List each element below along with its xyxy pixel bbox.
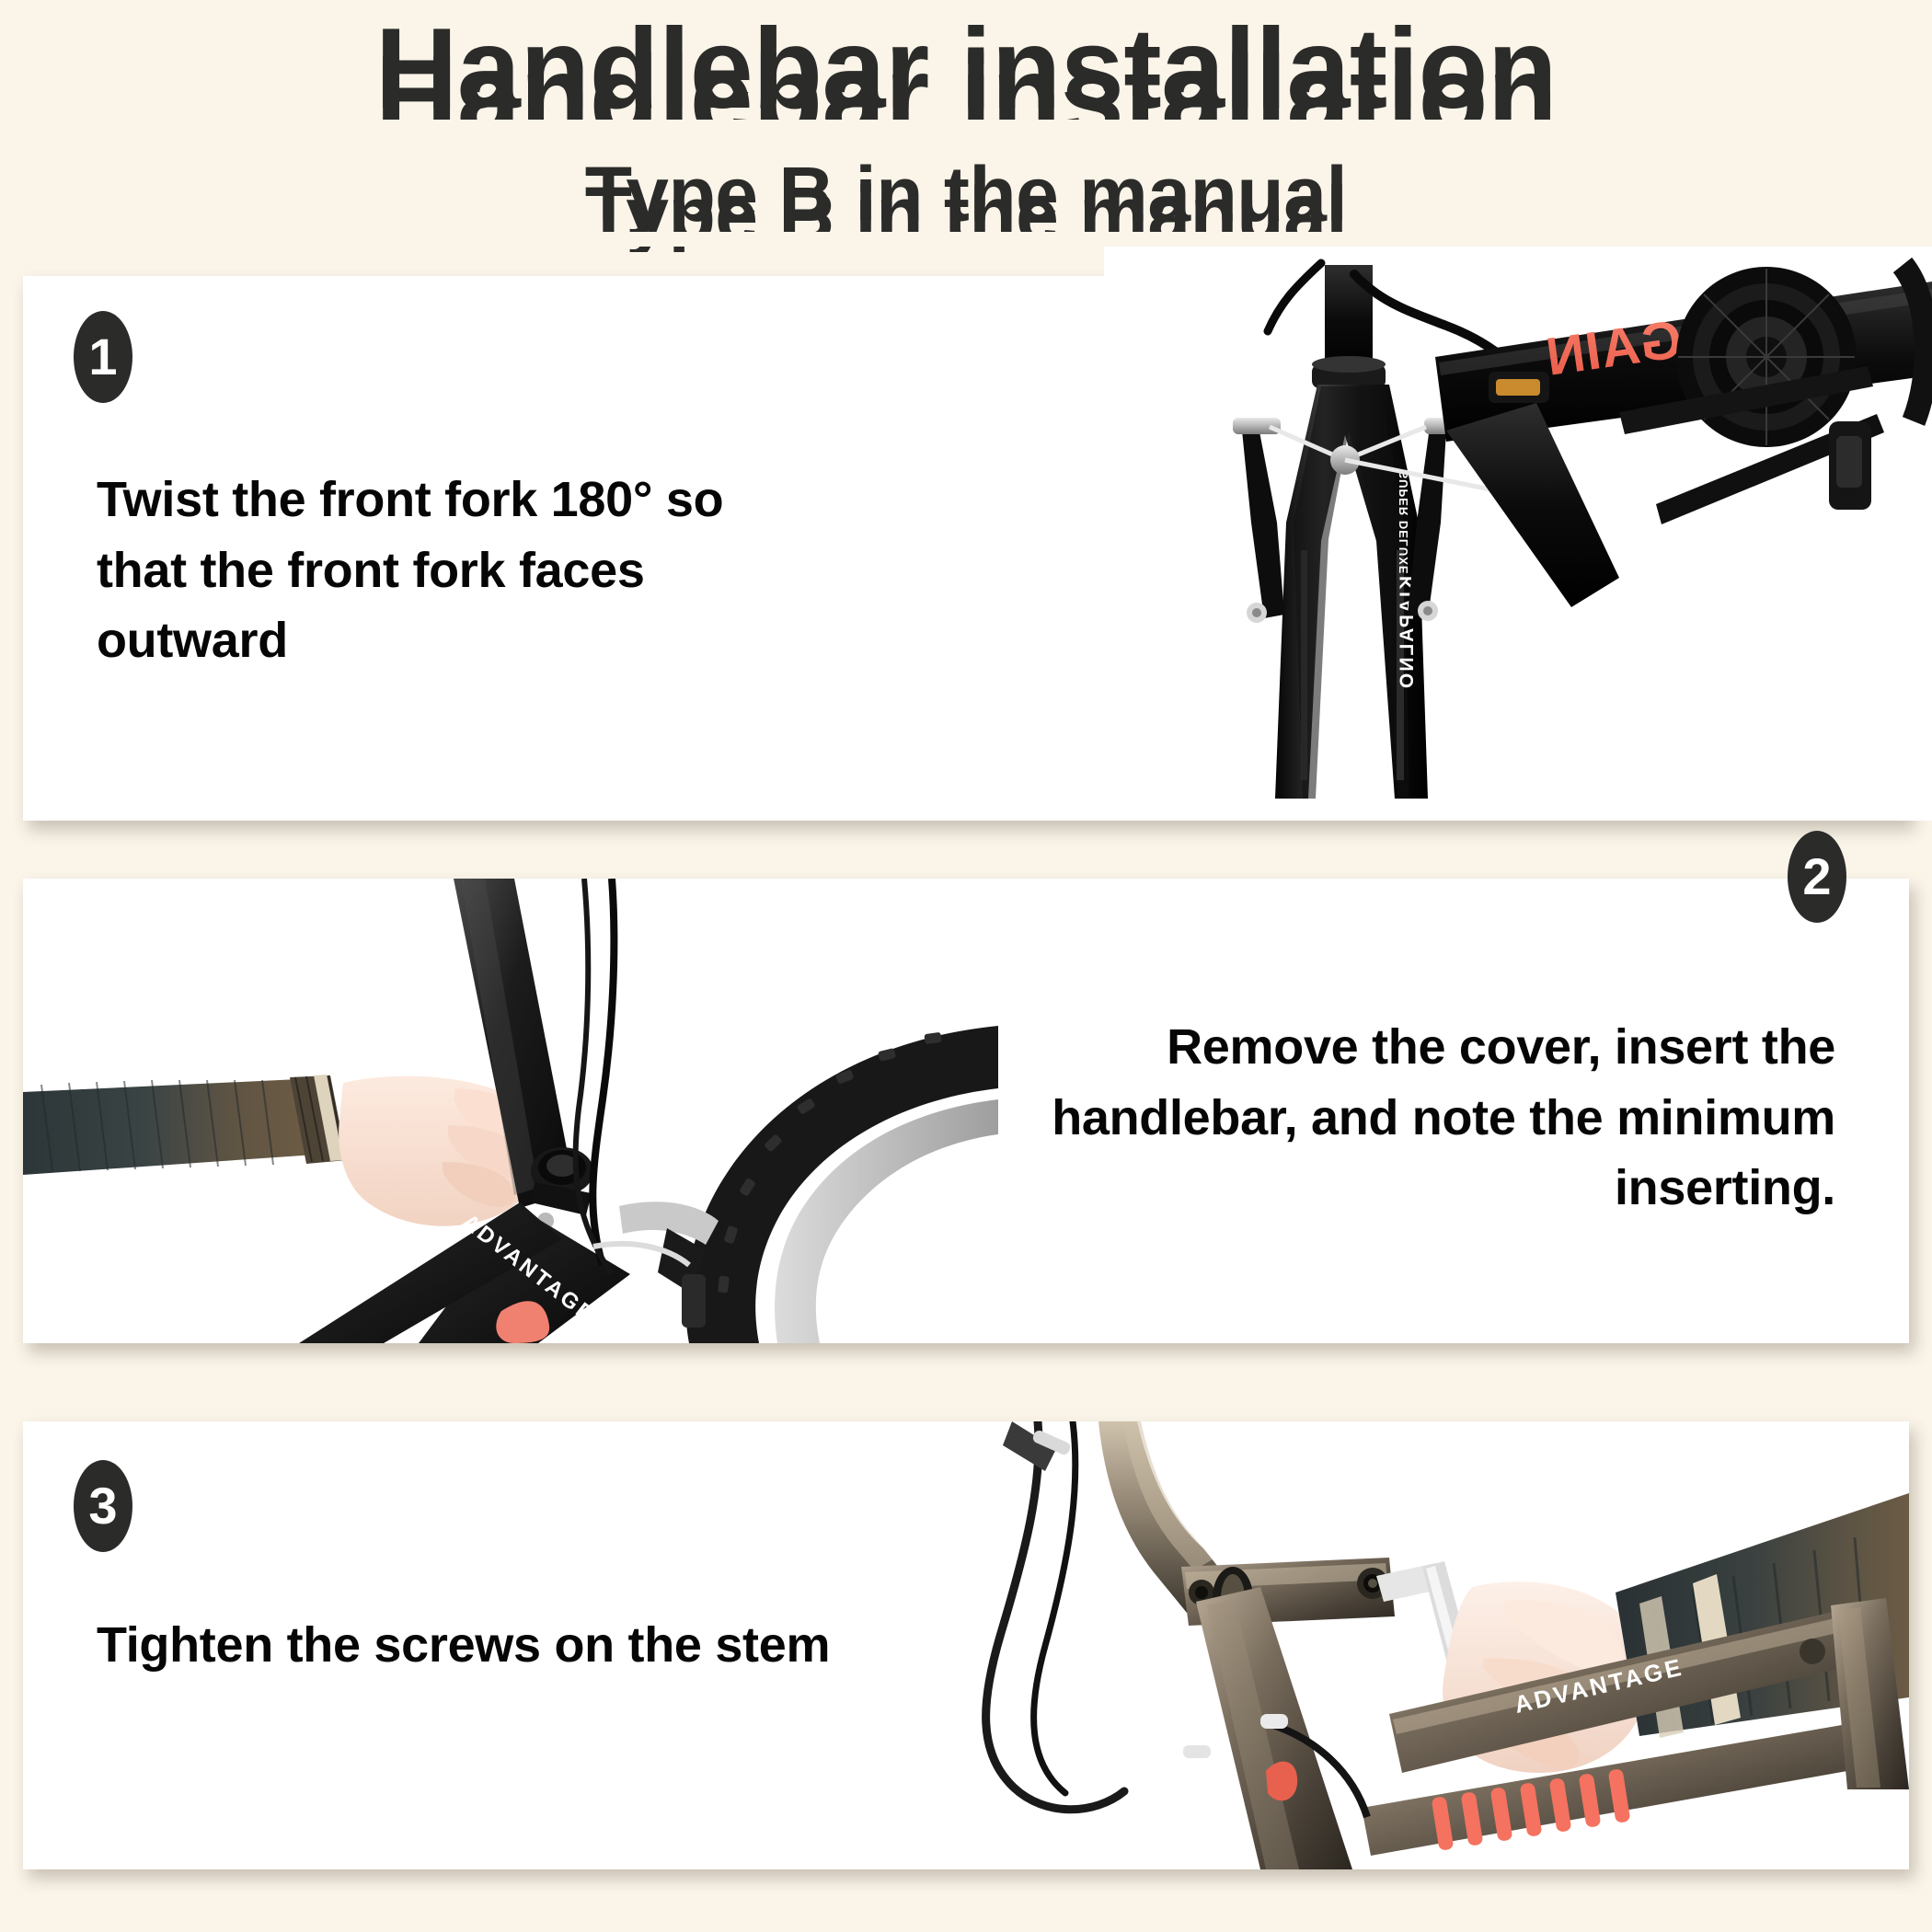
step-badge-1: 1 — [74, 311, 132, 403]
step-photo-3: ADVANTAGE — [957, 1421, 1909, 1869]
step-text-2: Remove the cover, insert the handlebar, … — [980, 1012, 1835, 1224]
instruction-poster: Handlebar installation Handlebar install… — [0, 0, 1932, 1932]
stem-tighten-illustration: ADVANTAGE — [957, 1421, 1909, 1869]
page-subtitle: Type B in the manual Type B in the manua… — [0, 144, 1932, 245]
step-photo-2: ADVANTAGE — [23, 879, 998, 1343]
step-photo-1: KIAPALNO SUPER DELUXE — [1104, 247, 1932, 821]
page-title: Handlebar installation Handlebar install… — [0, 0, 1932, 138]
title-mask-band-a — [0, 120, 1932, 140]
step-badge-2: 2 — [1788, 831, 1846, 923]
step-text-1: Twist the front fork 180° so that the fr… — [97, 465, 814, 676]
fork-sub-decal-text: SUPER DELUXE — [1397, 470, 1410, 574]
step-badge-3: 3 — [74, 1460, 132, 1552]
header: Handlebar installation Handlebar install… — [0, 0, 1932, 276]
step-text-3: Tighten the screws on the stem — [97, 1610, 1017, 1681]
stem-cover-illustration: ADVANTAGE — [23, 879, 998, 1343]
bike-fork-illustration: KIAPALNO SUPER DELUXE — [1104, 247, 1932, 821]
subtitle-mask-band-a — [0, 232, 1932, 247]
